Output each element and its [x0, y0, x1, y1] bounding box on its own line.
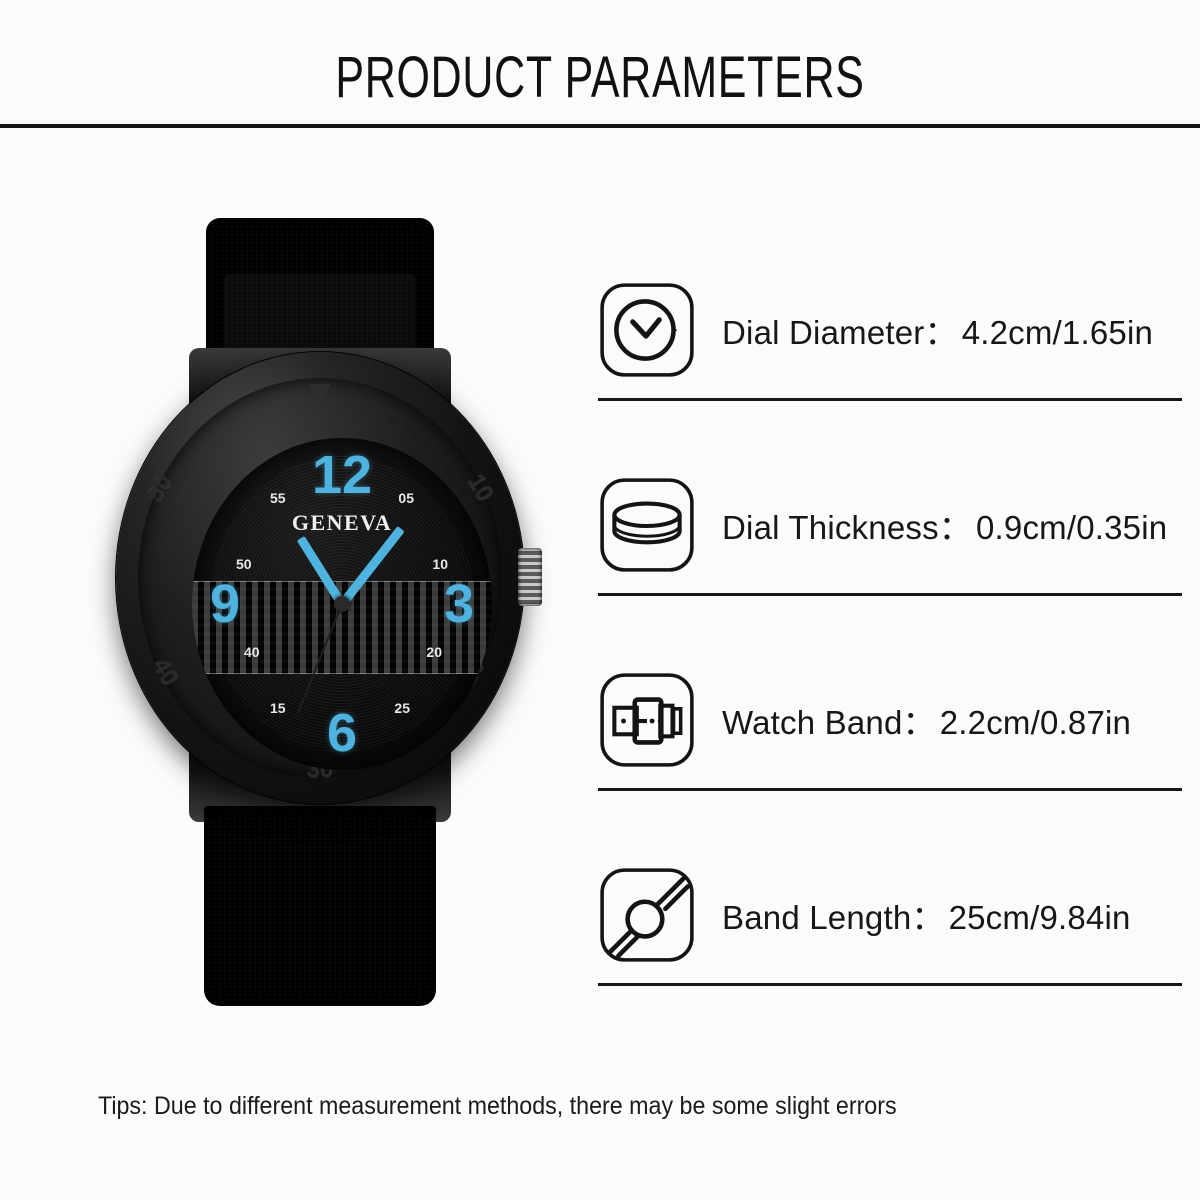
parameter-row-dial-diameter: Dial Diameter：4.2cm/1.65in — [596, 268, 1184, 463]
product-parameters-page: PRODUCT PARAMETERS 10 20 30 40 50 — [0, 0, 1200, 1200]
parameter-row-watch-band: Watch Band：2.2cm/0.87in — [596, 658, 1184, 853]
row-divider — [598, 788, 1182, 791]
dial-minute-05: 05 — [398, 490, 414, 506]
watch-dial-icon — [596, 279, 698, 381]
row-divider — [598, 398, 1182, 401]
parameter-text-dial-thickness: Dial Thickness：0.9cm/0.35in — [698, 501, 1184, 549]
product-watch-image: 10 20 30 40 50 GENEVA 12 3 6 9 05 10 15 … — [70, 170, 570, 1000]
dial-minute-15: 15 — [270, 700, 286, 716]
dial-numeral-3: 3 — [444, 577, 474, 631]
parameter-text-band-length: Band Length：25cm/9.84in — [698, 891, 1184, 939]
watch-crown-icon — [518, 548, 542, 606]
parameter-text-dial-diameter: Dial Diameter：4.2cm/1.65in — [698, 306, 1184, 354]
parameter-row-dial-thickness: Dial Thickness：0.9cm/0.35in — [596, 463, 1184, 658]
brand-name: GENEVA — [292, 510, 392, 536]
dial-numeral-6: 6 — [327, 706, 357, 760]
dial-numeral-9: 9 — [210, 577, 240, 631]
parameter-value: 2.2cm/0.87in — [936, 704, 1131, 741]
parameter-label: Dial Thickness： — [722, 509, 972, 546]
parameter-label: Band Length： — [722, 899, 945, 936]
dial-minute-40: 40 — [244, 644, 260, 660]
row-divider — [598, 983, 1182, 986]
hand-center-cap — [334, 596, 350, 612]
dial-minute-50: 50 — [236, 556, 252, 572]
watch-strap-bottom — [204, 806, 436, 1006]
watch-buckle-icon — [596, 669, 698, 771]
parameter-value: 4.2cm/1.65in — [958, 314, 1153, 351]
parameter-list: Dial Diameter：4.2cm/1.65in Dial Thicknes… — [596, 268, 1184, 1048]
disc-thickness-icon — [596, 474, 698, 576]
bezel-numeral-50: 50 — [141, 469, 179, 506]
dial-minute-10: 10 — [432, 556, 448, 572]
parameter-row-band-length: Band Length：25cm/9.84in — [596, 853, 1184, 1048]
parameter-value: 25cm/9.84in — [945, 899, 1131, 936]
parameter-label: Dial Diameter： — [722, 314, 958, 351]
parameter-value: 0.9cm/0.35in — [972, 509, 1167, 546]
bezel-numeral-10: 10 — [462, 469, 500, 506]
watch-bezel: 10 20 30 40 50 GENEVA 12 3 6 9 05 10 15 … — [138, 378, 502, 778]
watch-case: 10 20 30 40 50 GENEVA 12 3 6 9 05 10 15 … — [116, 352, 524, 804]
dial-numeral-12: 12 — [312, 448, 372, 502]
parameter-label: Watch Band： — [722, 704, 936, 741]
bezel-triangle-marker-icon — [309, 384, 331, 400]
parameter-text-watch-band: Watch Band：2.2cm/0.87in — [698, 696, 1184, 744]
dial-minute-20: 20 — [426, 644, 442, 660]
band-length-icon — [596, 864, 698, 966]
dial-minute-55: 55 — [270, 490, 286, 506]
dial-minute-25: 25 — [394, 700, 410, 716]
page-header: PRODUCT PARAMETERS — [0, 0, 1200, 128]
bezel-numeral-40: 40 — [147, 653, 185, 690]
page-title: PRODUCT PARAMETERS — [156, 44, 1044, 111]
watch-dial: GENEVA 12 3 6 9 05 10 15 20 25 40 50 55 — [192, 438, 492, 770]
footer-tip-text: Tips: Due to different measurement metho… — [98, 1092, 897, 1121]
row-divider — [598, 593, 1182, 596]
header-divider — [0, 124, 1200, 128]
